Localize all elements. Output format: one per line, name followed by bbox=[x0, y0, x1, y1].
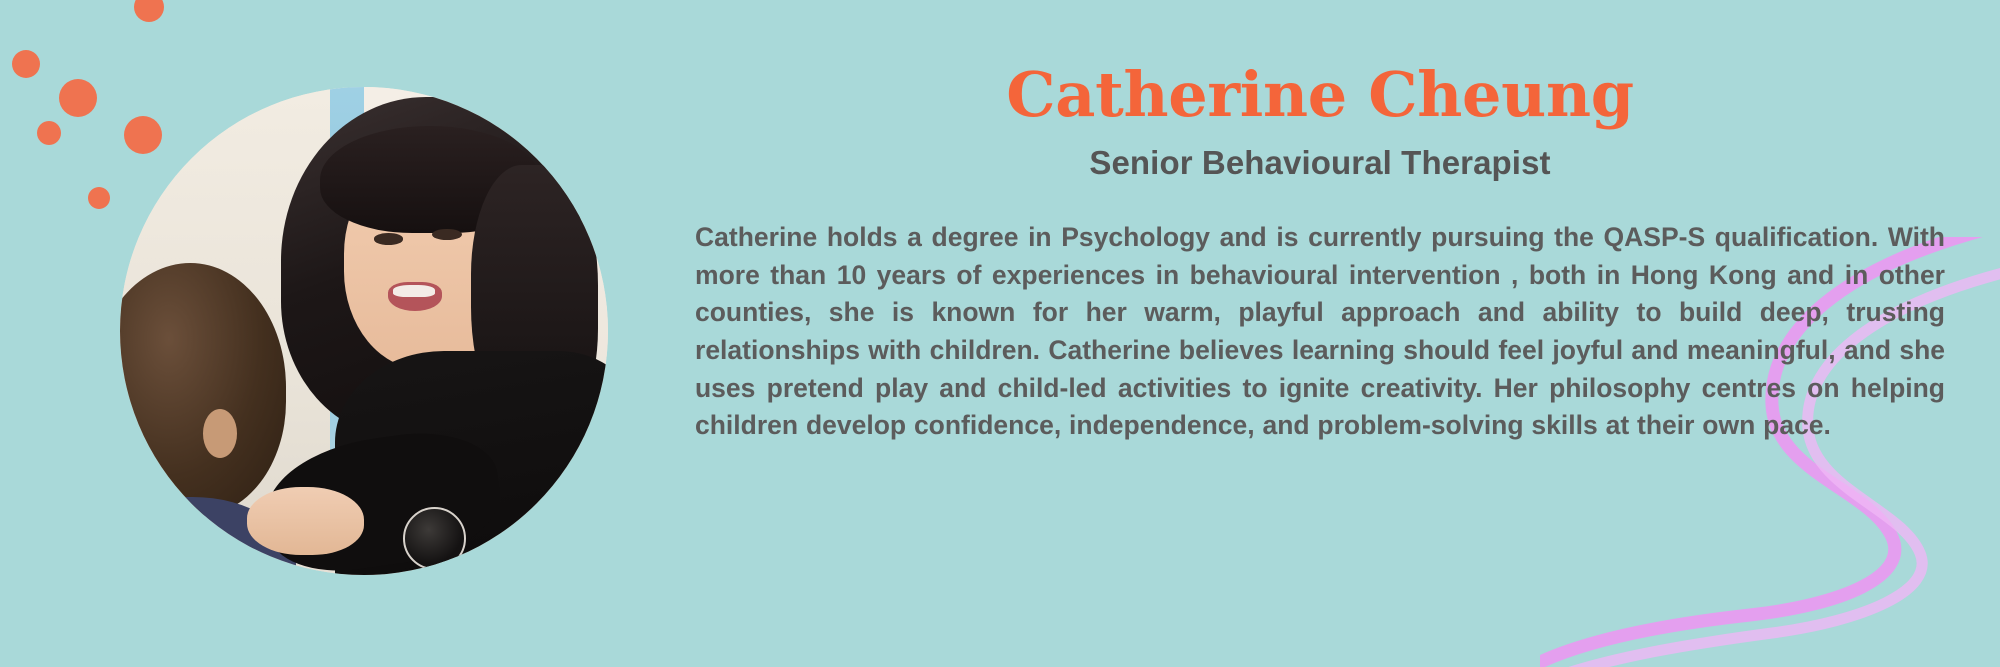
therapist-with-child-photo bbox=[120, 87, 608, 575]
person-name: Catherine Cheung bbox=[695, 60, 1945, 129]
profile-card: Catherine Cheung Senior Behavioural Ther… bbox=[0, 0, 2000, 667]
dot-decoration-4 bbox=[37, 121, 61, 145]
dot-decoration-3 bbox=[59, 79, 97, 117]
photo-woman-eye-left bbox=[374, 233, 403, 244]
photo-child-ear bbox=[203, 409, 237, 458]
dot-decoration-1 bbox=[134, 0, 164, 22]
dot-decoration-6 bbox=[88, 187, 110, 209]
person-bio: Catherine holds a degree in Psychology a… bbox=[695, 219, 1945, 445]
photo-woman-hand bbox=[247, 487, 364, 555]
person-role: Senior Behavioural Therapist bbox=[695, 143, 1945, 183]
profile-text-column: Catherine Cheung Senior Behavioural Ther… bbox=[695, 60, 1945, 445]
dot-decoration-2 bbox=[12, 50, 40, 78]
photo-woman-eye-right bbox=[432, 229, 461, 240]
photo-woman-teeth bbox=[393, 285, 434, 298]
portrait-avatar bbox=[120, 87, 608, 575]
